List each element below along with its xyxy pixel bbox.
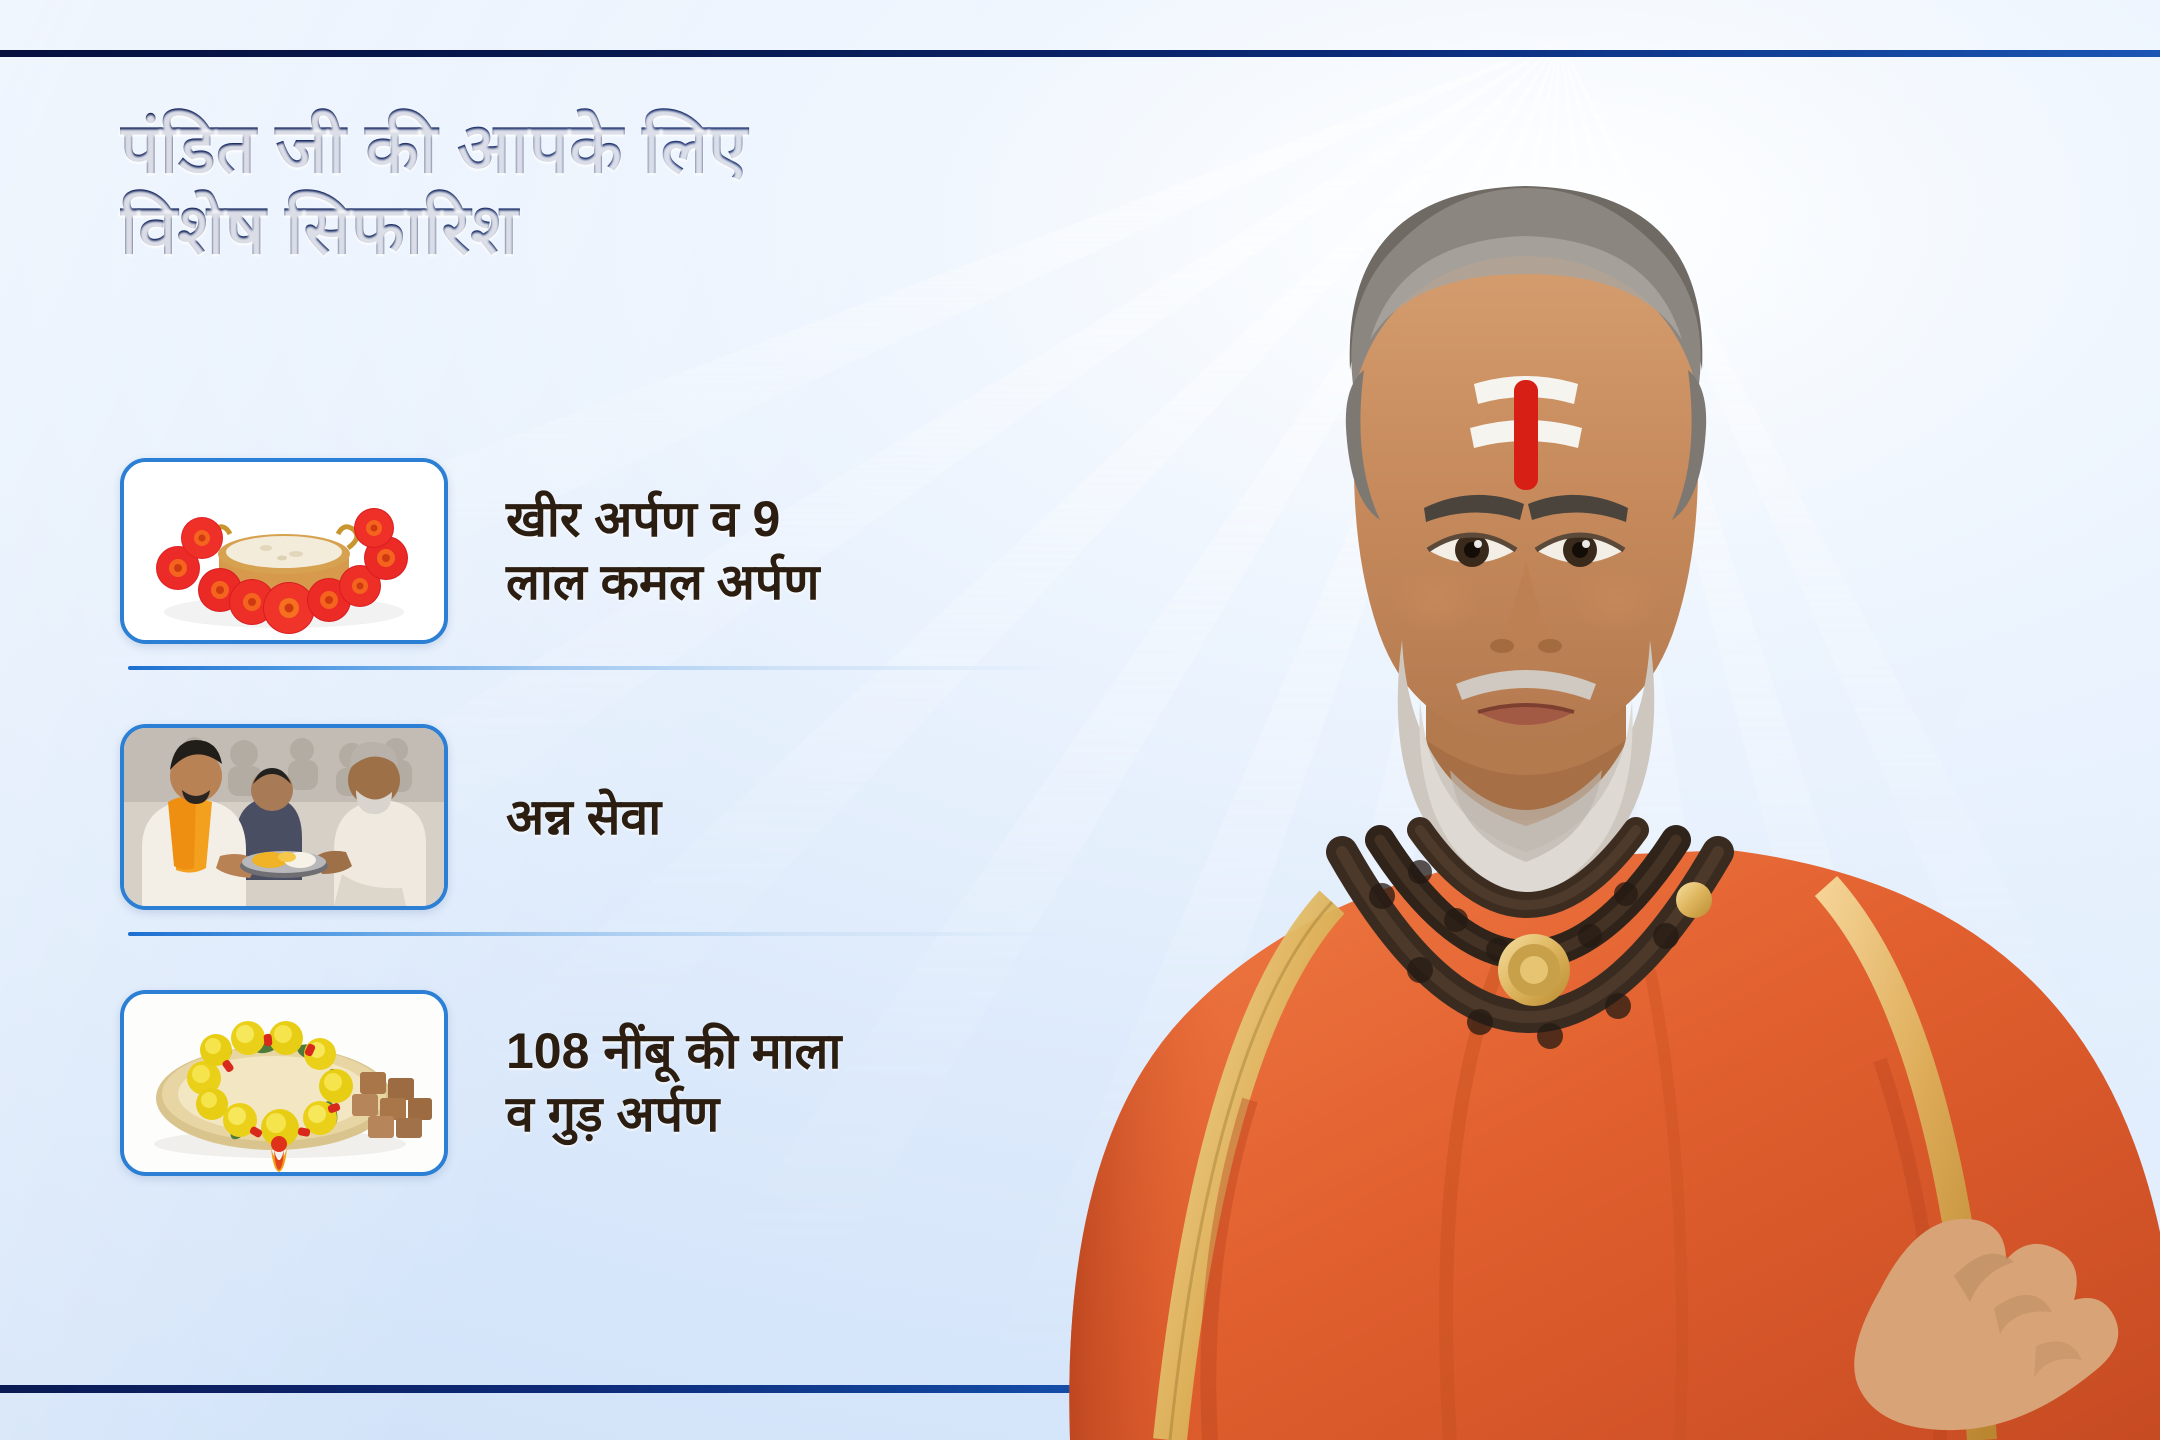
list-item-label: अन्न सेवा	[506, 786, 661, 849]
priest-portrait	[950, 40, 2160, 1440]
list-item-label-line2: व गुड़ अर्पण	[506, 1083, 841, 1146]
list-item-label-line1: अन्न सेवा	[506, 786, 661, 849]
list-item-label-line2: लाल कमल अर्पण	[506, 551, 819, 614]
recommendation-list: खीर अर्पण व 9 लाल कमल अर्पण	[120, 462, 1080, 1172]
list-item[interactable]: खीर अर्पण व 9 लाल कमल अर्पण	[120, 462, 1080, 640]
poster-canvas: पंडित जी की आपके लिए विशेष सिफारिश	[0, 0, 2160, 1440]
list-item[interactable]: 108 नींबू की माला व गुड़ अर्पण	[120, 994, 1080, 1172]
list-divider	[128, 666, 1068, 670]
list-item-label: 108 नींबू की माला व गुड़ अर्पण	[506, 1020, 841, 1146]
list-item-label-line1: खीर अर्पण व 9	[506, 488, 819, 551]
lemon-garland-thumbnail[interactable]	[120, 990, 448, 1176]
list-item-label: खीर अर्पण व 9 लाल कमल अर्पण	[506, 488, 819, 614]
list-item-label-line1: 108 नींबू की माला	[506, 1020, 841, 1083]
list-divider	[128, 932, 1068, 936]
gold-pendant	[1498, 934, 1570, 1006]
anna-seva-thumbnail[interactable]	[120, 724, 448, 910]
kheer-lotus-thumbnail[interactable]	[120, 458, 448, 644]
list-item[interactable]: अन्न सेवा	[120, 728, 1080, 906]
